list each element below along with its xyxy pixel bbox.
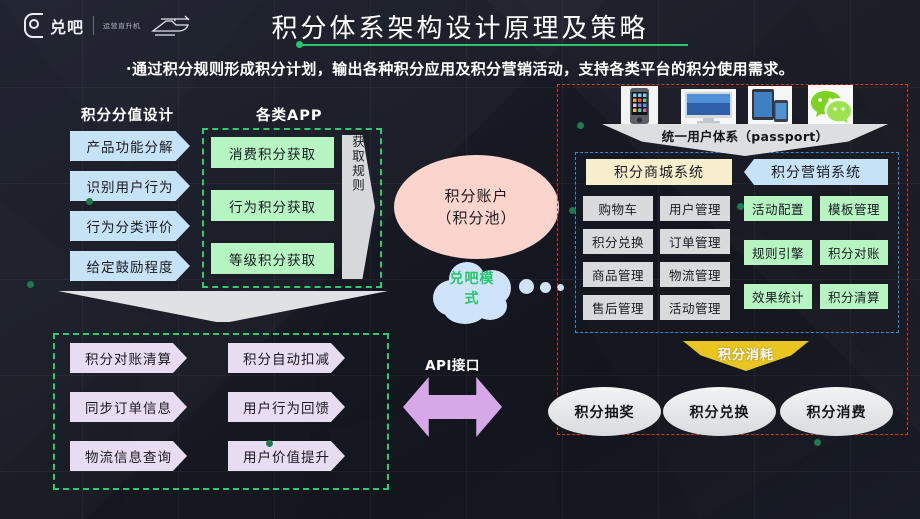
chip-label: 用户价值提升	[243, 446, 330, 466]
cell-label: 活动管理	[669, 298, 721, 317]
chip-consume-points[interactable]: 消费积分获取	[211, 137, 334, 168]
page-title: 积分体系架构设计原理及策略	[0, 8, 920, 45]
outcome-label: 积分消费	[807, 402, 867, 422]
cell-cart[interactable]: 购物车	[583, 196, 653, 221]
cell-activity-mgmt[interactable]: 活动管理	[660, 295, 730, 320]
cell-label: 物流管理	[669, 265, 721, 284]
pool-line-1: 积分账户	[444, 185, 508, 208]
chip-label: 行为分类评价	[87, 216, 174, 236]
pool-line-2: （积分池）	[436, 207, 516, 230]
outcome-lottery[interactable]: 积分抽奖	[548, 387, 661, 436]
apps-column-heading: 各类APP	[256, 104, 322, 125]
chip-label: 等级积分获取	[229, 249, 316, 269]
left-column-heading: 积分分值设计	[81, 104, 174, 125]
cell-activity-config[interactable]: 活动配置	[744, 196, 812, 221]
chip-points-reconcile[interactable]: 积分对账清算	[70, 343, 187, 373]
cell-label: 规则引擎	[752, 243, 804, 262]
outcome-exchange[interactable]: 积分兑换	[663, 387, 776, 436]
chip-label: 消费积分获取	[229, 143, 316, 163]
outcome-spend[interactable]: 积分消费	[780, 387, 893, 436]
cell-label: 积分对账	[828, 243, 880, 262]
title-rule	[299, 44, 688, 46]
outcome-label: 积分兑换	[690, 402, 750, 422]
chip-sync-order[interactable]: 同步订单信息	[70, 392, 187, 422]
cell-order-mgmt[interactable]: 订单管理	[660, 229, 730, 254]
cell-label: 商品管理	[592, 265, 644, 284]
chip-auto-deduct[interactable]: 积分自动扣减	[228, 343, 345, 373]
decor-dot-4	[737, 203, 744, 210]
cell-label: 积分清算	[828, 287, 880, 306]
chip-level-points[interactable]: 等级积分获取	[211, 243, 334, 274]
chip-label: 物流信息查询	[85, 446, 172, 466]
cloud-line-1: 兑吧模	[429, 269, 515, 289]
chip-incentive-level[interactable]: 给定鼓励程度	[70, 251, 190, 281]
mall-system-heading: 积分商城系统	[586, 159, 732, 185]
chip-behavior-feedback[interactable]: 用户行为回馈	[228, 392, 345, 422]
cell-user-mgmt[interactable]: 用户管理	[660, 196, 730, 221]
chip-behavior-points[interactable]: 行为积分获取	[211, 190, 334, 221]
decor-dot-5	[266, 440, 273, 447]
chip-identify-behavior[interactable]: 识别用户行为	[70, 171, 190, 201]
flow-down-chevron	[58, 291, 388, 322]
api-label: API接口	[403, 354, 502, 374]
thought-bubble-2	[540, 282, 551, 293]
cell-label: 订单管理	[669, 232, 721, 251]
slide-canvas: 兑吧 运营直升机 积分体系架构设计原理及策略 ·通过积分规则形成积分计划，输出各…	[0, 0, 920, 519]
chip-label: 积分对账清算	[85, 348, 172, 368]
api-double-arrow	[403, 377, 502, 437]
cell-template-mgmt[interactable]: 模板管理	[820, 196, 888, 221]
points-consume-label: 积分消耗	[683, 344, 809, 363]
marketing-system-label: 积分营销系统	[771, 162, 861, 182]
duiba-mode-label: 兑吧模 式	[429, 269, 515, 310]
cell-rule-engine[interactable]: 规则引擎	[744, 240, 812, 265]
points-account-pool: 积分账户 （积分池）	[394, 155, 559, 259]
decor-dot-2	[577, 122, 584, 129]
decor-dot-3	[569, 207, 576, 214]
chip-logistics-query[interactable]: 物流信息查询	[70, 441, 187, 471]
chip-product-function[interactable]: 产品功能分解	[70, 131, 190, 161]
chip-label: 行为积分获取	[229, 196, 316, 216]
outcome-label: 积分抽奖	[575, 402, 635, 422]
cell-points-settle[interactable]: 积分清算	[820, 284, 888, 309]
cell-product-mgmt[interactable]: 商品管理	[583, 262, 653, 287]
chip-label: 产品功能分解	[87, 136, 174, 156]
cell-logistics-mgmt[interactable]: 物流管理	[660, 262, 730, 287]
smartphone-icon	[621, 86, 658, 130]
cell-label: 积分兑换	[592, 232, 644, 251]
cell-label: 售后管理	[592, 298, 644, 317]
chip-label: 给定鼓励程度	[87, 256, 174, 276]
decor-dot-7	[27, 281, 34, 288]
marketing-system-heading: 积分营销系统	[744, 159, 888, 185]
chip-label: 用户行为回馈	[243, 397, 330, 417]
cell-points-exchange[interactable]: 积分兑换	[583, 229, 653, 254]
chip-label: 同步订单信息	[85, 397, 172, 417]
desktop-monitor-icon	[681, 89, 736, 130]
cell-points-reconcile[interactable]: 积分对账	[820, 240, 888, 265]
mall-system-label: 积分商城系统	[614, 162, 704, 182]
decor-dot-1	[86, 198, 93, 205]
cloud-line-2: 式	[429, 289, 515, 309]
chip-behavior-classify[interactable]: 行为分类评价	[70, 211, 190, 241]
chip-label: 积分自动扣减	[243, 348, 330, 368]
cell-effect-stats[interactable]: 效果统计	[744, 284, 812, 309]
cell-label: 活动配置	[752, 199, 804, 218]
passport-banner-label: 统一用户体系（passport）	[602, 126, 888, 145]
acquire-rule-label: 获取规则	[342, 135, 367, 279]
cell-label: 效果统计	[752, 287, 804, 306]
chip-label: 识别用户行为	[87, 176, 174, 196]
cell-label: 用户管理	[669, 199, 721, 218]
thought-bubble-1	[519, 279, 534, 294]
cell-aftersales-mgmt[interactable]: 售后管理	[583, 295, 653, 320]
page-subtitle: ·通过积分规则形成积分计划，输出各种积分应用及积分营销活动，支持各类平台的积分使…	[0, 58, 920, 79]
cell-label: 购物车	[598, 199, 637, 218]
decor-dot-6	[814, 439, 821, 446]
chip-user-value-up[interactable]: 用户价值提升	[228, 441, 345, 471]
cell-label: 模板管理	[828, 199, 880, 218]
